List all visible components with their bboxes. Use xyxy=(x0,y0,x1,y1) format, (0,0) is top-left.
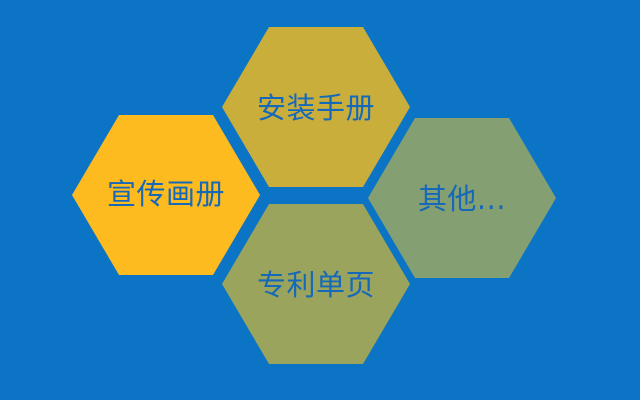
hex-label-installation-manual: 安装手册 xyxy=(257,91,375,125)
hexagon-diagram: 宣传画册 安装手册 专利单页 其他... xyxy=(0,0,640,400)
hex-node-patent-flyer[interactable]: 专利单页 xyxy=(222,204,410,364)
hex-node-brochure[interactable]: 宣传画册 xyxy=(72,115,260,275)
hex-node-others[interactable]: 其他... xyxy=(368,118,556,278)
hexagon-diagram-canvas: 宣传画册 安装手册 专利单页 其他... xyxy=(0,0,640,400)
hex-label-patent-flyer: 专利单页 xyxy=(257,268,375,302)
hex-label-brochure: 宣传画册 xyxy=(107,177,225,211)
hex-label-others: 其他... xyxy=(418,182,506,216)
hex-node-installation-manual[interactable]: 安装手册 xyxy=(222,27,410,187)
